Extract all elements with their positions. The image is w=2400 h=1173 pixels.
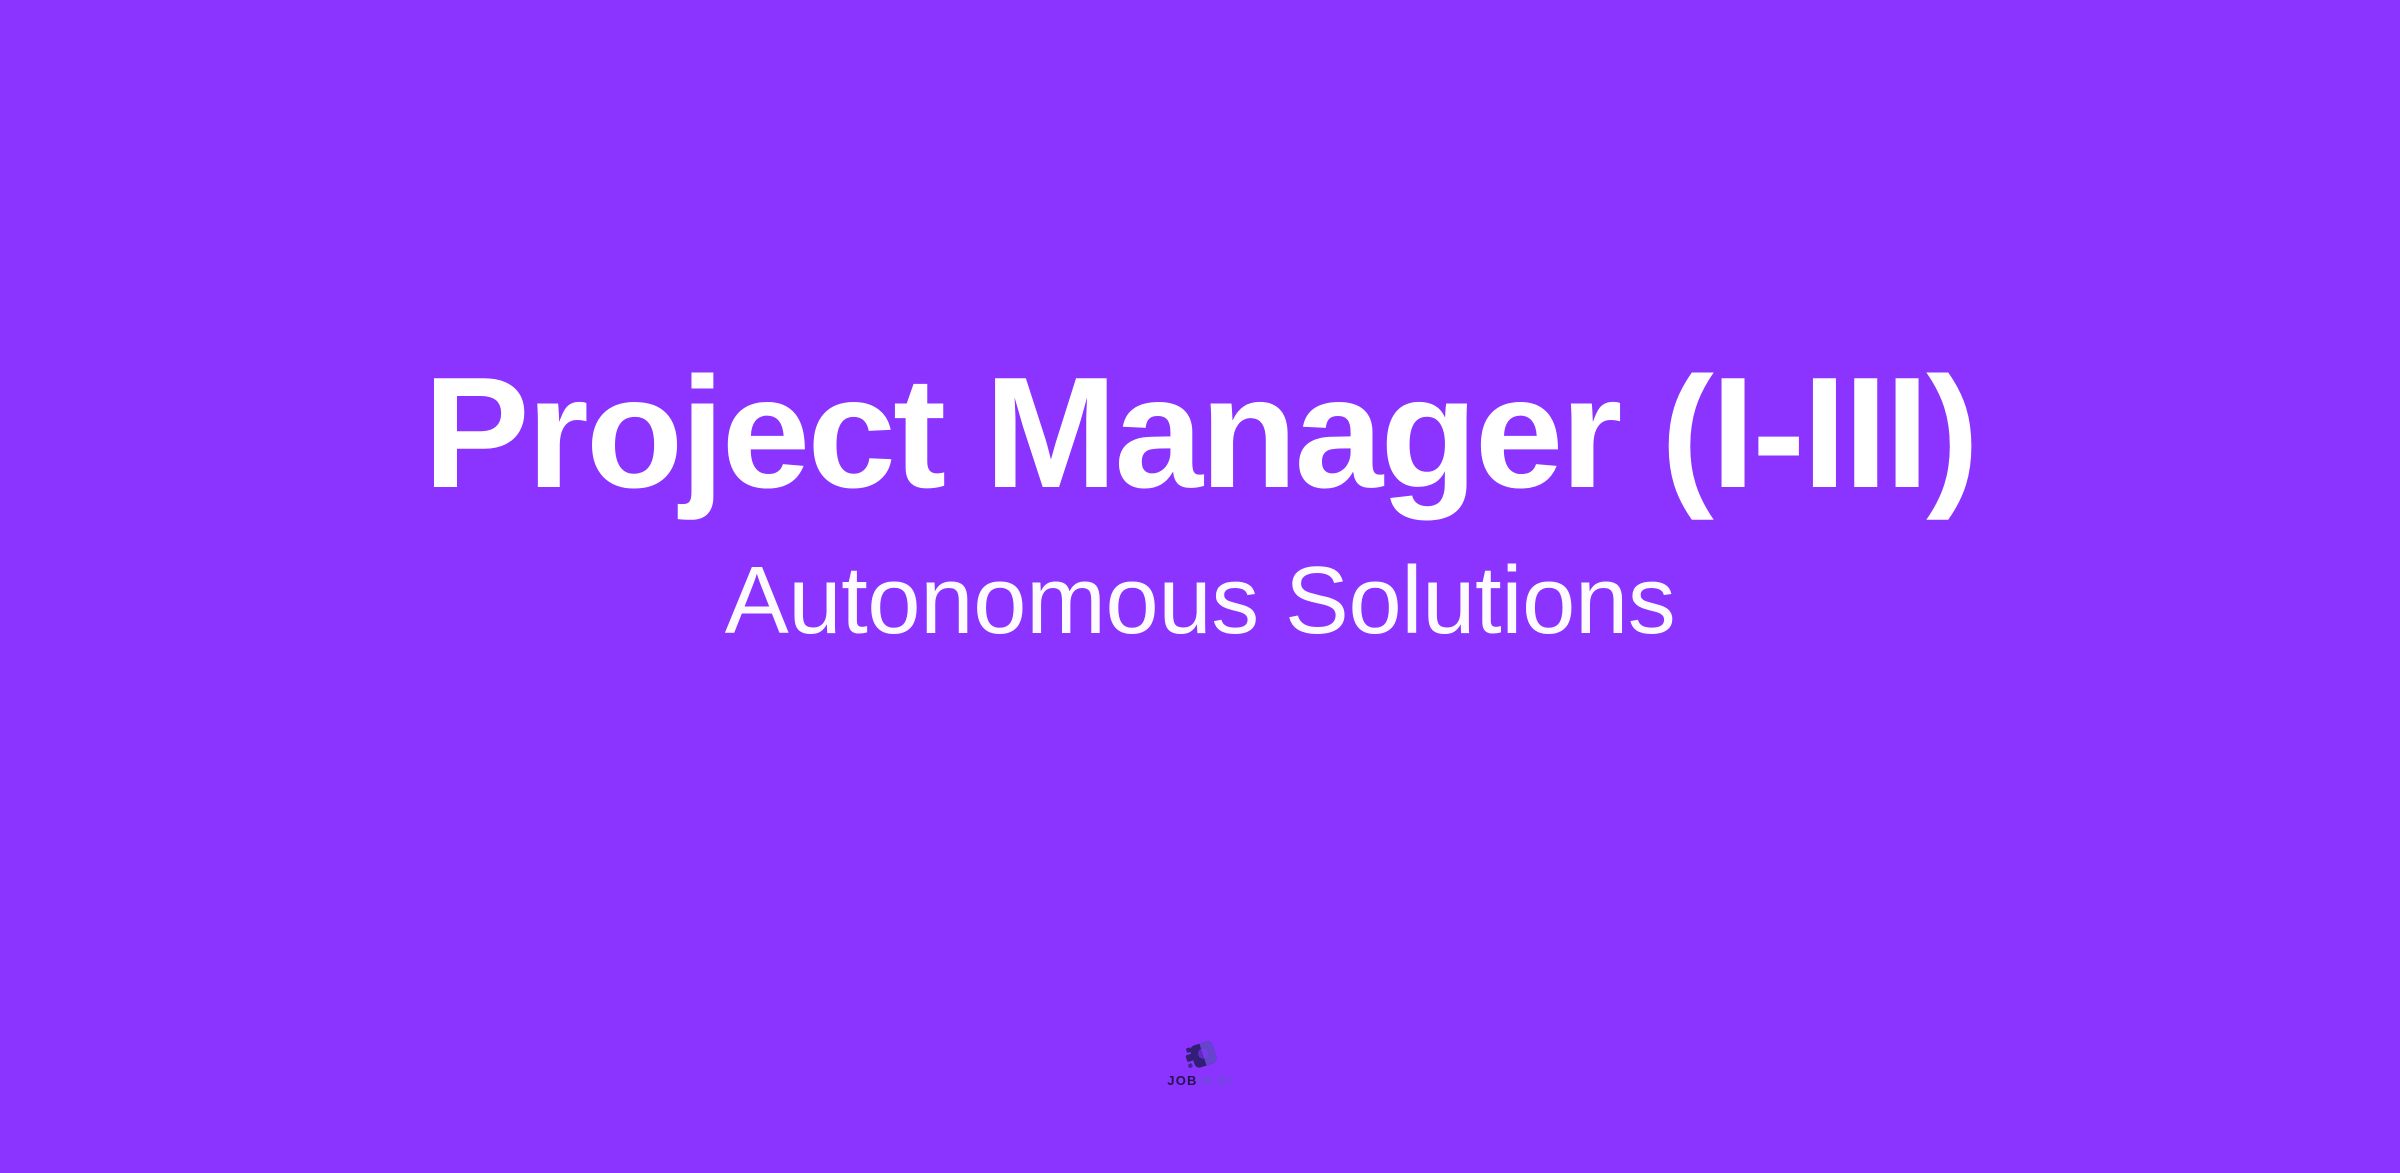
jobinai-logo-icon <box>1183 1041 1217 1071</box>
page-title: Project Manager (I-III) <box>423 352 1976 515</box>
brand-word-secondary: IN AI <box>1198 1074 1233 1087</box>
page-subtitle: Autonomous Solutions <box>725 551 1676 652</box>
brand-wordmark: JOBIN AI <box>1167 1074 1232 1087</box>
brand-lockup: JOBIN AI <box>1167 1041 1232 1087</box>
brand-word-primary: JOB <box>1167 1074 1197 1087</box>
job-posting-title-card: Project Manager (I-III) Autonomous Solut… <box>0 0 2400 1173</box>
hero-text-block: Project Manager (I-III) Autonomous Solut… <box>0 352 2400 652</box>
